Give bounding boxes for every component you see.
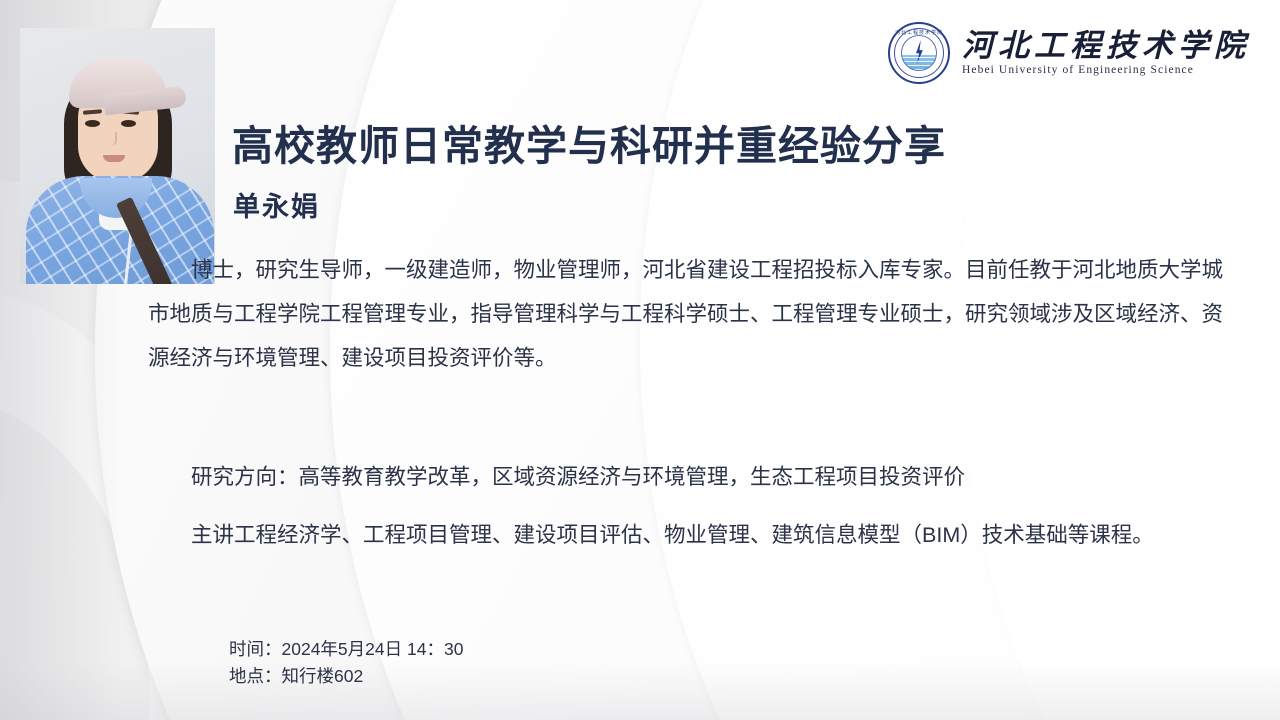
taught-courses: 主讲工程经济学、工程项目管理、建设项目评估、物业管理、建筑信息模型（BIM）技术…: [148, 513, 1228, 557]
crest-water-waves: [902, 56, 936, 70]
university-logo: 河北工程技术学院 河北工程技术学院 Hebei University of En…: [888, 22, 1250, 84]
crest-inner-disc: [901, 35, 937, 71]
background-bottom-shade: [0, 660, 1280, 720]
event-time: 时间：2024年5月24日 14：30: [229, 636, 463, 663]
university-crest-icon: 河北工程技术学院: [888, 22, 950, 84]
event-location: 地点：知行楼602: [229, 663, 463, 690]
event-details: 时间：2024年5月24日 14：30 地点：知行楼602: [229, 636, 463, 690]
university-name-en: Hebei University of Engineering Science: [962, 64, 1250, 76]
university-name-cn: 河北工程技术学院: [962, 30, 1250, 63]
portrait-mouth: [103, 155, 125, 162]
speaker-biography: 博士，研究生导师，一级建造师，物业管理师，河北省建设工程招投标入库专家。目前任教…: [148, 248, 1223, 380]
research-directions: 研究方向：高等教育教学改革，区域资源经济与环境管理，生态工程项目投资评价: [148, 455, 1228, 499]
lecture-poster-slide: 河北工程技术学院 河北工程技术学院 Hebei University of En…: [0, 0, 1280, 720]
speaker-name: 单永娟: [233, 185, 320, 224]
portrait-nose: [107, 132, 117, 146]
page-title: 高校教师日常教学与科研并重经验分享: [232, 112, 946, 172]
portrait-eye-left: [85, 120, 100, 127]
speaker-portrait-photo: [20, 28, 215, 284]
portrait-eye-right: [121, 120, 136, 127]
university-logo-wordmark: 河北工程技术学院 Hebei University of Engineering…: [962, 30, 1250, 76]
